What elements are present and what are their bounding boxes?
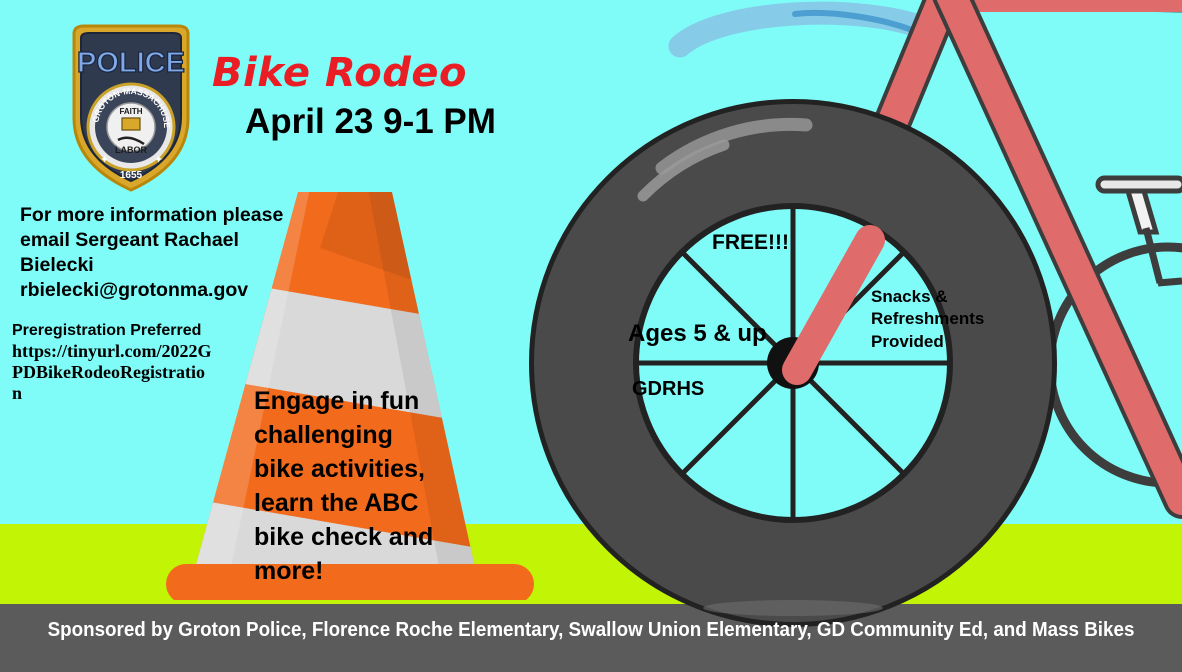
svg-text:✦: ✦ [100, 154, 109, 166]
label-location: GDRHS [632, 378, 704, 401]
contact-email: rbielecki@grotonma.gov [20, 278, 290, 303]
label-snacks: Snacks & Refreshments Provided [871, 286, 1001, 353]
event-date: April 23 9-1 PM [245, 102, 496, 142]
page-title: Bike Rodeo [212, 50, 467, 96]
badge-year-text: 1655 [120, 170, 143, 181]
label-free: FREE!!! [712, 231, 789, 255]
label-ages: Ages 5 & up [628, 320, 767, 348]
bike-rodeo-poster: POLICE FAITH LABOR 1655 GROTON·MASSACHUS… [0, 0, 1182, 672]
svg-text:✦: ✦ [154, 154, 163, 166]
contact-line-3: Bielecki [20, 253, 290, 278]
preregistration-url[interactable]: https://tinyurl.com/2022GPDBikeRodeoRegi… [12, 341, 212, 405]
badge-police-text: POLICE [77, 47, 185, 79]
sponsor-banner-text: Sponsored by Groton Police, Florence Roc… [35, 619, 1146, 642]
contact-info: For more information please email Sergea… [20, 203, 290, 304]
police-badge: POLICE FAITH LABOR 1655 GROTON·MASSACHUS… [66, 22, 196, 194]
cone-activity-text: Engage in fun challenging bike activitie… [254, 384, 439, 588]
badge-labor-text: LABOR [115, 145, 147, 155]
contact-line-2: email Sergeant Rachael [20, 228, 290, 253]
contact-line-1: For more information please [20, 203, 290, 228]
preregistration-heading: Preregistration Preferred [12, 321, 242, 341]
badge-faith-text: FAITH [119, 107, 142, 116]
